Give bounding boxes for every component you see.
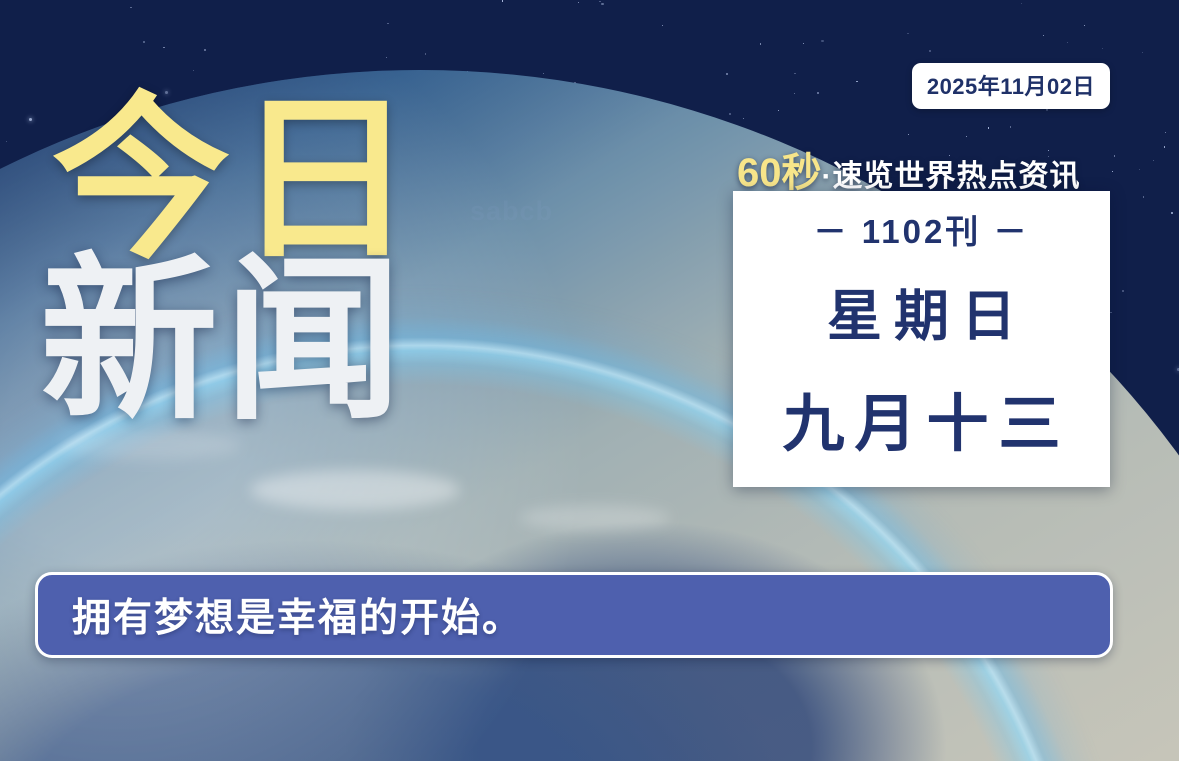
star [130, 7, 131, 8]
star [386, 57, 387, 58]
star [817, 92, 819, 94]
star [1171, 212, 1173, 214]
star [1102, 48, 1103, 49]
news-poster: sabcb 今日 新闻 2025年11月02日 60秒·速览世界热点资讯 － 1… [0, 0, 1179, 761]
star [778, 110, 779, 111]
issue-number: － 1102刊 － [814, 205, 1030, 253]
star [1165, 132, 1166, 133]
star [1143, 196, 1144, 197]
headline-line-today: 今日 [52, 96, 420, 263]
star [929, 50, 931, 52]
quote-text: 拥有梦想是幸福的开始。 [72, 587, 523, 643]
star [387, 23, 388, 24]
star [803, 43, 804, 44]
star [193, 70, 194, 71]
star [502, 0, 503, 1]
star [794, 73, 795, 74]
star [578, 2, 579, 3]
star [907, 33, 908, 34]
star [425, 53, 426, 54]
star [794, 93, 795, 94]
star [601, 3, 603, 5]
star [1043, 35, 1044, 36]
tagline-highlight: 60秒 [737, 151, 822, 195]
page-title: 今日 新闻 [52, 96, 420, 425]
star [1010, 126, 1011, 127]
star [966, 136, 967, 137]
date-info-card: － 1102刊 － 星期日 九月十三 [733, 191, 1110, 487]
quote-bar: 拥有梦想是幸福的开始。 [35, 572, 1113, 658]
star [204, 49, 206, 51]
lunar-date: 九月十三 [772, 373, 1070, 463]
star [1114, 155, 1115, 156]
date-badge: 2025年11月02日 [912, 63, 1110, 109]
star [6, 141, 7, 142]
star [1084, 25, 1085, 26]
star [908, 134, 909, 135]
star [543, 73, 544, 74]
star [821, 40, 823, 42]
star [163, 47, 164, 48]
star [1142, 52, 1143, 53]
tagline-rest: ·速览世界热点资讯 [822, 160, 1081, 193]
star [743, 118, 744, 119]
star [29, 118, 32, 121]
star [1067, 42, 1068, 43]
tagline: 60秒·速览世界热点资讯 [737, 140, 1081, 198]
star [1153, 160, 1154, 161]
star [726, 73, 728, 75]
star [1021, 3, 1022, 4]
star [856, 81, 857, 82]
star [599, 1, 600, 2]
headline-line-news: 新闻 [40, 257, 420, 424]
star [143, 41, 145, 43]
star [729, 113, 731, 115]
star [760, 43, 761, 44]
star [988, 127, 989, 128]
weekday-label: 星期日 [815, 271, 1028, 351]
star [1122, 290, 1124, 292]
star [1110, 312, 1111, 313]
star [662, 25, 663, 26]
star [1112, 171, 1113, 172]
star [1139, 169, 1140, 170]
star [1164, 146, 1165, 147]
